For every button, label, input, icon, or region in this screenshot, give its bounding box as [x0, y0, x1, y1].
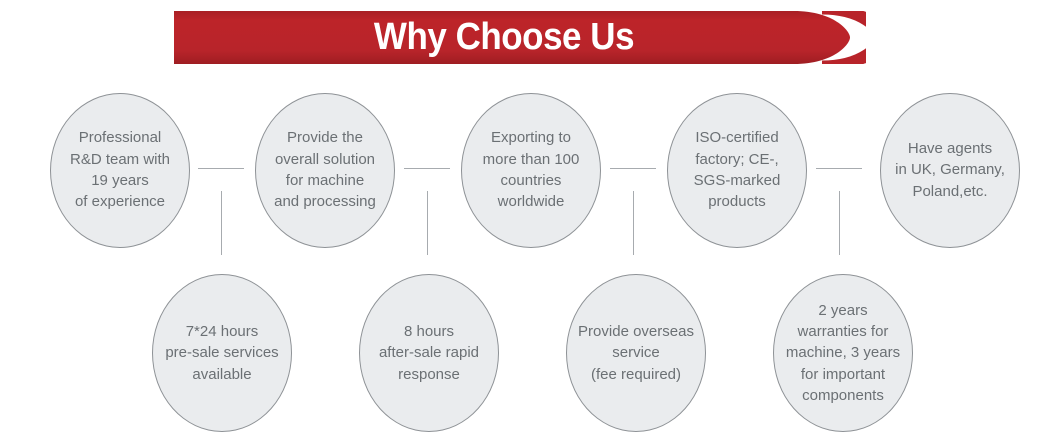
connector-vertical-v2 [427, 191, 428, 255]
node-bottom-warranties: 2 years warranties for machine, 3 years … [773, 274, 913, 432]
node-top-overall-solution: Provide the overall solution for machine… [255, 93, 395, 248]
banner: Why Choose Us [174, 11, 866, 64]
node-label: 7*24 hours pre-sale services available [157, 321, 286, 385]
node-top-exporting-countries: Exporting to more than 100 countries wor… [461, 93, 601, 248]
connector-vertical-v1 [221, 191, 222, 255]
node-label: Professional R&D team with 19 years of e… [62, 127, 178, 212]
node-top-iso-certified: ISO-certified factory; CE-, SGS-marked p… [667, 93, 807, 248]
connector-horizontal-h3 [610, 168, 656, 169]
node-top-professional-rd-team: Professional R&D team with 19 years of e… [50, 93, 190, 248]
node-bottom-overseas-service: Provide overseas service (fee required) [566, 274, 706, 432]
connector-horizontal-h4 [816, 168, 862, 169]
connector-vertical-v4 [839, 191, 840, 255]
node-label: Provide overseas service (fee required) [570, 321, 702, 385]
node-label: ISO-certified factory; CE-, SGS-marked p… [686, 127, 789, 212]
node-label: Have agents in UK, Germany, Poland,etc. [887, 138, 1013, 202]
node-label: 2 years warranties for machine, 3 years … [778, 300, 908, 406]
node-top-have-agents: Have agents in UK, Germany, Poland,etc. [880, 93, 1020, 248]
connector-horizontal-h2 [404, 168, 450, 169]
node-bottom-after-sale-rapid: 8 hours after-sale rapid response [359, 274, 499, 432]
page-title: Why Choose Us [200, 11, 807, 64]
connector-vertical-v3 [633, 191, 634, 255]
node-label: Exporting to more than 100 countries wor… [475, 127, 588, 212]
node-label: Provide the overall solution for machine… [266, 127, 384, 212]
connector-horizontal-h1 [198, 168, 244, 169]
node-label: 8 hours after-sale rapid response [371, 321, 487, 385]
node-bottom-pre-sale-services: 7*24 hours pre-sale services available [152, 274, 292, 432]
why-choose-us-infographic: Why Choose Us Professional R&D team with… [0, 0, 1060, 448]
